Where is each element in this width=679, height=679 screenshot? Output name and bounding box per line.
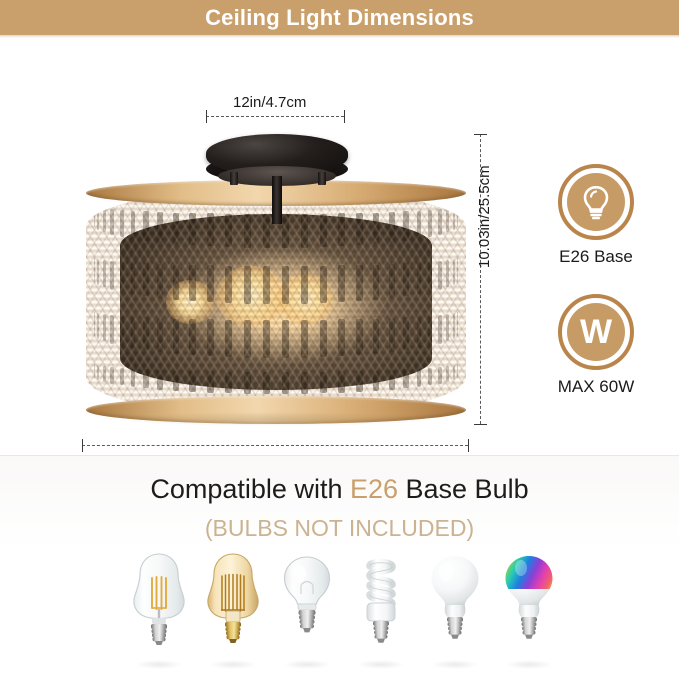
bulb-led-filament (122, 548, 196, 666)
bulb-reflection (210, 660, 256, 669)
dimension-label-depth: 12in/4.7cm (233, 94, 306, 111)
dimension-line-bottom (82, 445, 468, 446)
ceiling-light-fixture (78, 126, 474, 428)
bulb-clear-incandescent (270, 548, 344, 666)
canopy-screw (318, 172, 326, 185)
dimension-tick (474, 424, 487, 425)
bulb-vintage-edison (196, 548, 270, 666)
dimension-label-height: 10.03in/25.5cm (476, 165, 493, 268)
dimension-tick (82, 439, 83, 452)
bulb-icon (579, 184, 613, 220)
dimension-tick (468, 439, 469, 452)
bulb-cfl-spiral (344, 548, 418, 666)
badge-caption: MAX 60W (548, 377, 644, 397)
dimension-line-top (206, 116, 344, 117)
dimension-tick (344, 110, 345, 123)
bulb-reflection (432, 660, 478, 669)
bulb-reflection (284, 660, 330, 669)
infographic-page: Ceiling Light Dimensions (0, 0, 679, 679)
canopy-screw (230, 172, 238, 185)
compat-highlight: E26 (350, 474, 398, 504)
compat-prefix: Compatible with (150, 474, 350, 504)
header-band: Ceiling Light Dimensions (0, 0, 679, 35)
compat-suffix: Base Bulb (398, 474, 529, 504)
bulbs-not-included-note: (BULBS NOT INCLUDED) (0, 515, 679, 542)
badge-e26-base: E26 Base (548, 164, 644, 267)
bulb-rgb-smart (492, 548, 566, 666)
fixture-stem (272, 176, 282, 224)
compatibility-heading: Compatible with E26 Base Bulb (0, 474, 679, 505)
bulb-reflection (506, 660, 552, 669)
badge-ring (558, 164, 634, 240)
dimension-tick (206, 110, 207, 123)
dimension-panel: 12in/4.7cm 12.59in/32cm 10.03in/25.5cm (0, 38, 679, 455)
dimension-tick (474, 134, 487, 135)
compatibility-panel: Compatible with E26 Base Bulb (BULBS NOT… (0, 456, 679, 679)
bulb-reflection (358, 660, 404, 669)
page-title: Ceiling Light Dimensions (205, 5, 474, 31)
wattage-icon: W (580, 315, 612, 349)
bulb-led-white (418, 548, 492, 666)
badge-caption: E26 Base (548, 247, 644, 267)
badge-inner-disc: W (567, 303, 625, 361)
badge-inner-disc (567, 173, 625, 231)
shade-drop-shadow (114, 412, 430, 426)
badge-ring: W (558, 294, 634, 370)
badge-max-wattage: W MAX 60W (548, 294, 644, 397)
compatible-bulb-row (122, 548, 562, 666)
bulb-reflection (136, 660, 182, 669)
